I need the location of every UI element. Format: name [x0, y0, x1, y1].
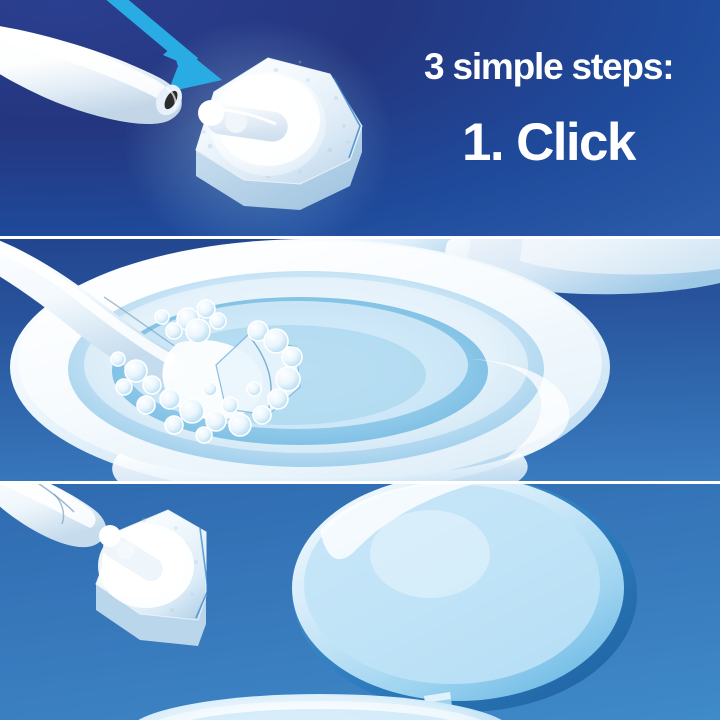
- hex-pad-icon: [96, 510, 208, 646]
- trash-lid-icon: [292, 484, 637, 712]
- step-panel-2-swish: 2. Swish: [0, 239, 720, 481]
- infographic-3-simple-steps: 3 simple steps: 1. Click: [0, 0, 720, 720]
- step-1-caption: 1. Click: [462, 112, 635, 173]
- panel-divider-1: [0, 236, 720, 239]
- panel-3-illustration: [0, 484, 720, 720]
- wand-handle-icon: [0, 484, 106, 547]
- step-panel-1-click: 3 simple steps: 1. Click: [0, 0, 720, 236]
- panel-2-illustration: [0, 239, 720, 481]
- headline: 3 simple steps:: [424, 46, 673, 88]
- panel-divider-2: [0, 481, 720, 484]
- step-panel-3-toss: 3. Toss: [0, 484, 720, 720]
